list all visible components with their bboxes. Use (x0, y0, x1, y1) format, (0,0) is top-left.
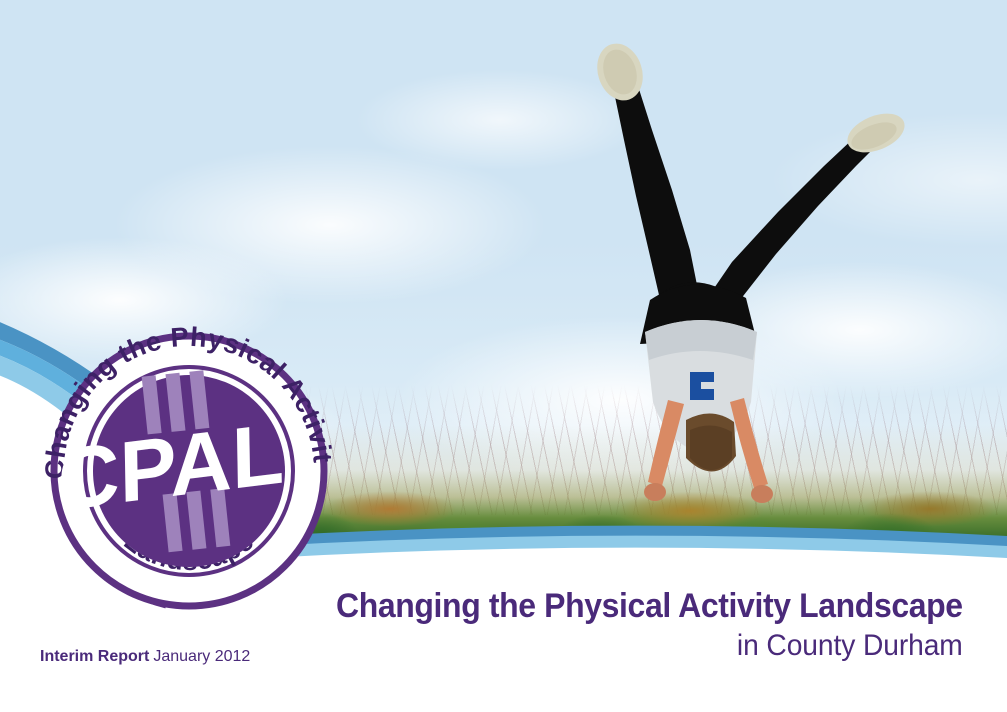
page-title: Changing the Physical Activity Landscape (336, 588, 963, 625)
report-cover-page: Changing the Physical Activity Landscape… (0, 0, 1007, 712)
report-meta: Interim ReportJanuary 2012 (40, 648, 250, 666)
report-date: January 2012 (153, 648, 250, 665)
cover-title-block: Changing the Physical Activity Landscape… (296, 588, 963, 662)
cpal-logo: Changing the Physical Activity Landscape… (34, 316, 344, 616)
page-subtitle: in County Durham (336, 630, 963, 662)
report-label: Interim Report (40, 648, 149, 665)
